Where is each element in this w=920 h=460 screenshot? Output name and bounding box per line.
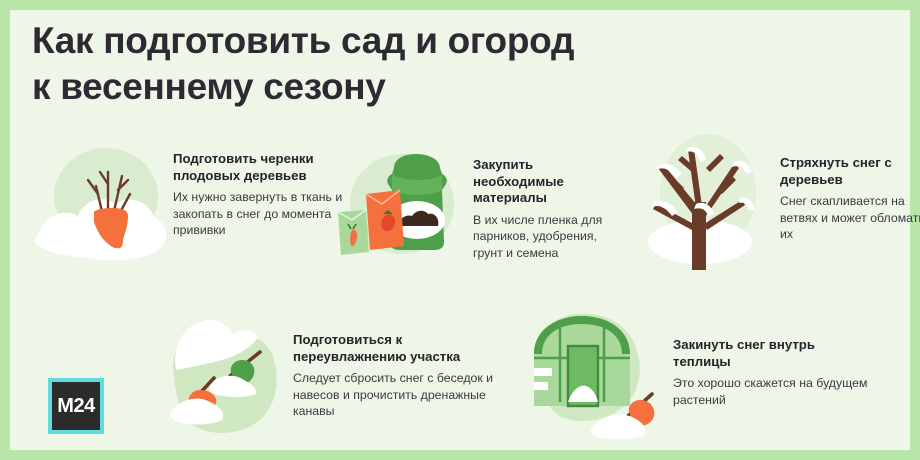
soil-bag-and-seed-packets-illustration [330,138,470,270]
block-greenhouse: Закинуть снег внутрь теплицы Это хорошо … [673,337,873,408]
block-cuttings-body: Их нужно завернуть в ткань и закопать в … [173,189,343,239]
block-materials-heading: Закупить необходимые материалы [473,157,623,207]
m24-logo: M24 [48,378,104,434]
m24-logo-text: M24 [57,396,94,416]
block-greenhouse-heading: Закинуть снег внутрь теплицы [673,337,873,370]
block-waterlogging-heading: Подготовиться к переувлажнению участка [293,332,508,365]
infographic-canvas: Как подготовить сад и огород к весеннему… [10,10,910,450]
block-shake-snow-heading: Стряхнуть снег с деревьев [780,155,920,188]
block-shake-snow: Стряхнуть снег с деревьев Снег скапливае… [780,155,920,243]
block-materials: Закупить необходимые материалы В их числ… [473,157,623,261]
block-cuttings-heading: Подготовить черенки плодовых деревьев [173,151,343,184]
page-title: Как подготовить сад и огород к весеннему… [32,18,732,110]
block-waterlogging: Подготовиться к переувлажнению участка С… [293,332,508,420]
page-title-line-1: Как подготовить сад и огород [32,18,732,64]
snowy-bare-tree-illustration [622,120,777,270]
greenhouse-with-shovel-illustration [508,298,673,443]
block-cuttings: Подготовить черенки плодовых деревьев Их… [173,151,343,239]
infographic-root: Как подготовить сад и огород к весеннему… [0,0,920,460]
block-waterlogging-body: Следует сбросить снег с беседок и навесо… [293,370,508,420]
page-title-line-2: к весеннему сезону [32,64,732,110]
cuttings-in-snow-illustration [30,128,180,268]
block-shake-snow-body: Снег скапливается на ветвях и может обло… [780,193,920,243]
two-shovels-in-snow-illustration [152,298,302,443]
block-greenhouse-body: Это хорошо скажется на будущем растений [673,375,873,408]
block-materials-body: В их числе пленка для парников, удобрени… [473,212,623,262]
